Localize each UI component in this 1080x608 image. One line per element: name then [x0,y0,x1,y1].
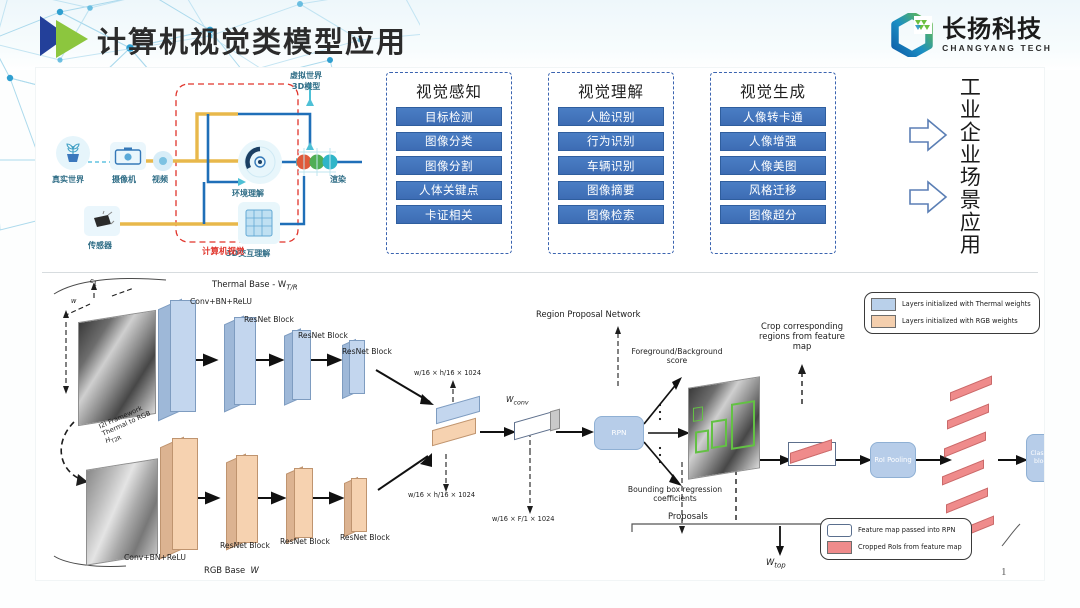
crop-regions-note: Crop corresponding regions from feature … [752,322,852,352]
thermal-base-label: Thermal Base - WT/R [212,280,298,292]
legend-swatch-feature-map [827,524,852,537]
thermal-resnet-block-1-face [234,317,256,405]
chip-list: 人像转卡通 人像增强 人像美图 风格迁移 图像超分 [711,107,835,224]
3d-grid-icon [238,202,280,244]
play-triangle-logo [38,14,94,58]
rgb-input-image [86,458,158,565]
legend-text-rgb: Layers initialized with RGB weights [902,317,1018,325]
rgb-resnet-block-3-face [351,478,367,532]
pipeline-label-video: 视频 [152,174,168,185]
category-column-visual-generation: 视觉生成 人像转卡通 人像增强 人像美图 风格迁移 图像超分 [710,72,836,254]
rgb-resnet-block-2-face [294,468,313,538]
legend-row-feature-map: Feature map passed into RPN [827,524,965,537]
dim-label-c1: c1 [90,278,97,288]
proposals-label: Proposals [668,512,708,522]
legend-row-rgb: Layers initialized with RGB weights [871,315,1033,328]
chip-body-keypoints[interactable]: 人体关键点 [396,181,502,200]
thermal-conv-block-face [170,300,196,412]
chip-card-id-related[interactable]: 卡证相关 [396,205,502,224]
legend-swatch-thermal [871,298,896,311]
legend-swatch-rgb [871,315,896,328]
rpn-label: RPN [611,428,626,437]
rgb-resnet-block-1-face [236,455,258,543]
bbox-regression-label: Bounding box regression coefficients [622,486,728,504]
company-logo: 长扬科技 CHANGYANG TECH [890,12,1052,58]
chip-portrait-beautify[interactable]: 人像美图 [720,156,826,175]
network-architecture-figure: RPN RoI Pooling [36,274,1044,578]
pipeline-label-computer-vision: 计算机视觉 [202,245,245,257]
pipeline-label-real-world: 真实世界 [52,174,84,185]
resnet-block-label-thermal-1: ResNet Block [244,316,294,325]
resnet-block-label-rgb-2: ResNet Block [280,538,330,547]
chip-list: 人脸识别 行为识别 车辆识别 图像摘要 图像检索 [549,107,673,224]
pipeline-label-env-understanding: 环境理解 [232,188,264,199]
legend-row-cropped-rois: Cropped RoIs from feature map [827,541,965,554]
roi-pooling-block: RoI Pooling [870,442,916,478]
resnet-block-label-rgb-1: ResNet Block [220,542,270,551]
potted-plant-icon [56,136,90,170]
legend-swatch-cropped-rois [827,541,852,554]
column-title: 视觉理解 [549,80,673,102]
chip-list: 目标检测 图像分类 图像分割 人体关键点 卡证相关 [387,107,511,224]
slide-root: 计算机视觉类模型应用 [0,0,1080,608]
video-lens-icon [153,151,173,171]
legend-text-cropped-rois: Cropped RoIs from feature map [858,543,962,551]
legend-text-feature-map: Feature map passed into RPN [858,526,955,534]
cv-pipeline-diagram: 真实世界 摄像机 视频 传感器 环境理解 3D交互理解 渲染 虚拟世界 3D模型… [42,72,382,270]
camera-icon [110,142,146,170]
right-arrow-outline-icon [908,180,948,214]
resnet-block-label-thermal-2: ResNet Block [298,332,348,341]
chip-style-transfer[interactable]: 风格迁移 [720,181,826,200]
pipeline-label-virtual-world: 虚拟世界 [290,70,322,81]
chip-image-captioning[interactable]: 图像摘要 [558,181,664,200]
region-proposal-network-label: Region Proposal Network [536,310,641,320]
wconv-feature-map-side [550,409,560,432]
rgb-base-label: RGB Base W [204,566,259,576]
rpn-block: RPN [594,416,644,450]
company-name-en: CHANGYANG TECH [942,43,1052,53]
chip-image-retrieval[interactable]: 图像检索 [558,205,664,224]
legend-row-thermal: Layers initialized with Thermal weights [871,298,1033,311]
environment-gauge-icon [238,140,282,184]
pipeline-label-camera: 摄像机 [112,174,136,185]
category-column-visual-perception: 视觉感知 目标检测 图像分类 图像分割 人体关键点 卡证相关 [386,72,512,254]
column-title: 视觉生成 [711,80,835,102]
wconv-label: Wconv [506,396,529,407]
wtop-label: Wtop [766,558,786,570]
changyang-c-hexagon-logo [890,13,934,57]
chip-image-segmentation[interactable]: 图像分割 [396,156,502,175]
page-title: 计算机视觉类模型应用 [97,19,407,61]
legend-feature-maps: Feature map passed into RPN Cropped RoIs… [820,518,972,560]
roi-rods-stack [936,384,1002,540]
foreground-background-score-label: Foreground/Background score [628,348,726,366]
proposal-image-with-boxes [688,376,760,479]
company-name-cn: 长扬科技 [942,17,1052,42]
section-divider [42,272,1038,273]
chip-object-detection[interactable]: 目标检测 [396,107,502,126]
dim-expr-thermal: w/16 × h/16 × 1024 [414,370,481,378]
roi-pooling-label: RoI Pooling [874,456,911,464]
pipeline-label-render: 渲染 [330,174,346,185]
chip-vehicle-recognition[interactable]: 车辆识别 [558,156,664,175]
content-panel: 真实世界 摄像机 视频 传感器 环境理解 3D交互理解 渲染 虚拟世界 3D模型… [36,68,1044,580]
classification-label: Classification block layer [1027,450,1044,466]
classification-block: Classification block layer [1026,434,1044,482]
outcome-group: 工业企业场景应用 [902,74,1038,264]
chip-action-recognition[interactable]: 行为识别 [558,132,664,151]
chip-portrait-enhancement[interactable]: 人像增强 [720,132,826,151]
dim-expr-rgb: w/16 × h/16 × 1024 [408,492,475,500]
resnet-block-label-thermal-3: ResNet Block [342,348,392,357]
page-number: 1 [1001,566,1007,578]
sensor-chip-icon [84,206,120,236]
legend-text-thermal: Layers initialized with Thermal weights [902,300,1031,308]
pipeline-label-3d-model: 3D模型 [292,81,320,92]
column-title: 视觉感知 [387,80,511,102]
dim-expr-wconv: w/16 × F/1 × 1024 [492,516,554,524]
chip-portrait-to-cartoon[interactable]: 人像转卡通 [720,107,826,126]
dim-label-w: w [71,298,76,306]
chip-face-recognition[interactable]: 人脸识别 [558,107,664,126]
resnet-block-label-rgb-3: ResNet Block [340,534,390,543]
upper-section: 真实世界 摄像机 视频 传感器 环境理解 3D交互理解 渲染 虚拟世界 3D模型… [36,68,1044,270]
outcome-label: 工业企业场景应用 [958,76,979,256]
chip-image-super-resolution[interactable]: 图像超分 [720,205,826,224]
conv-block-label-rgb: Conv+BN+ReLU [124,554,186,563]
pipeline-label-sensor: 传感器 [88,240,112,251]
category-column-visual-understanding: 视觉理解 人脸识别 行为识别 车辆识别 图像摘要 图像检索 [548,72,674,254]
legend-weights: Layers initialized with Thermal weights … [864,292,1040,334]
conv-block-label-thermal: Conv+BN+ReLU [190,298,252,307]
right-arrow-outline-icon [908,118,948,152]
chip-image-classification[interactable]: 图像分类 [396,132,502,151]
rgb-conv-block-face [172,438,198,550]
